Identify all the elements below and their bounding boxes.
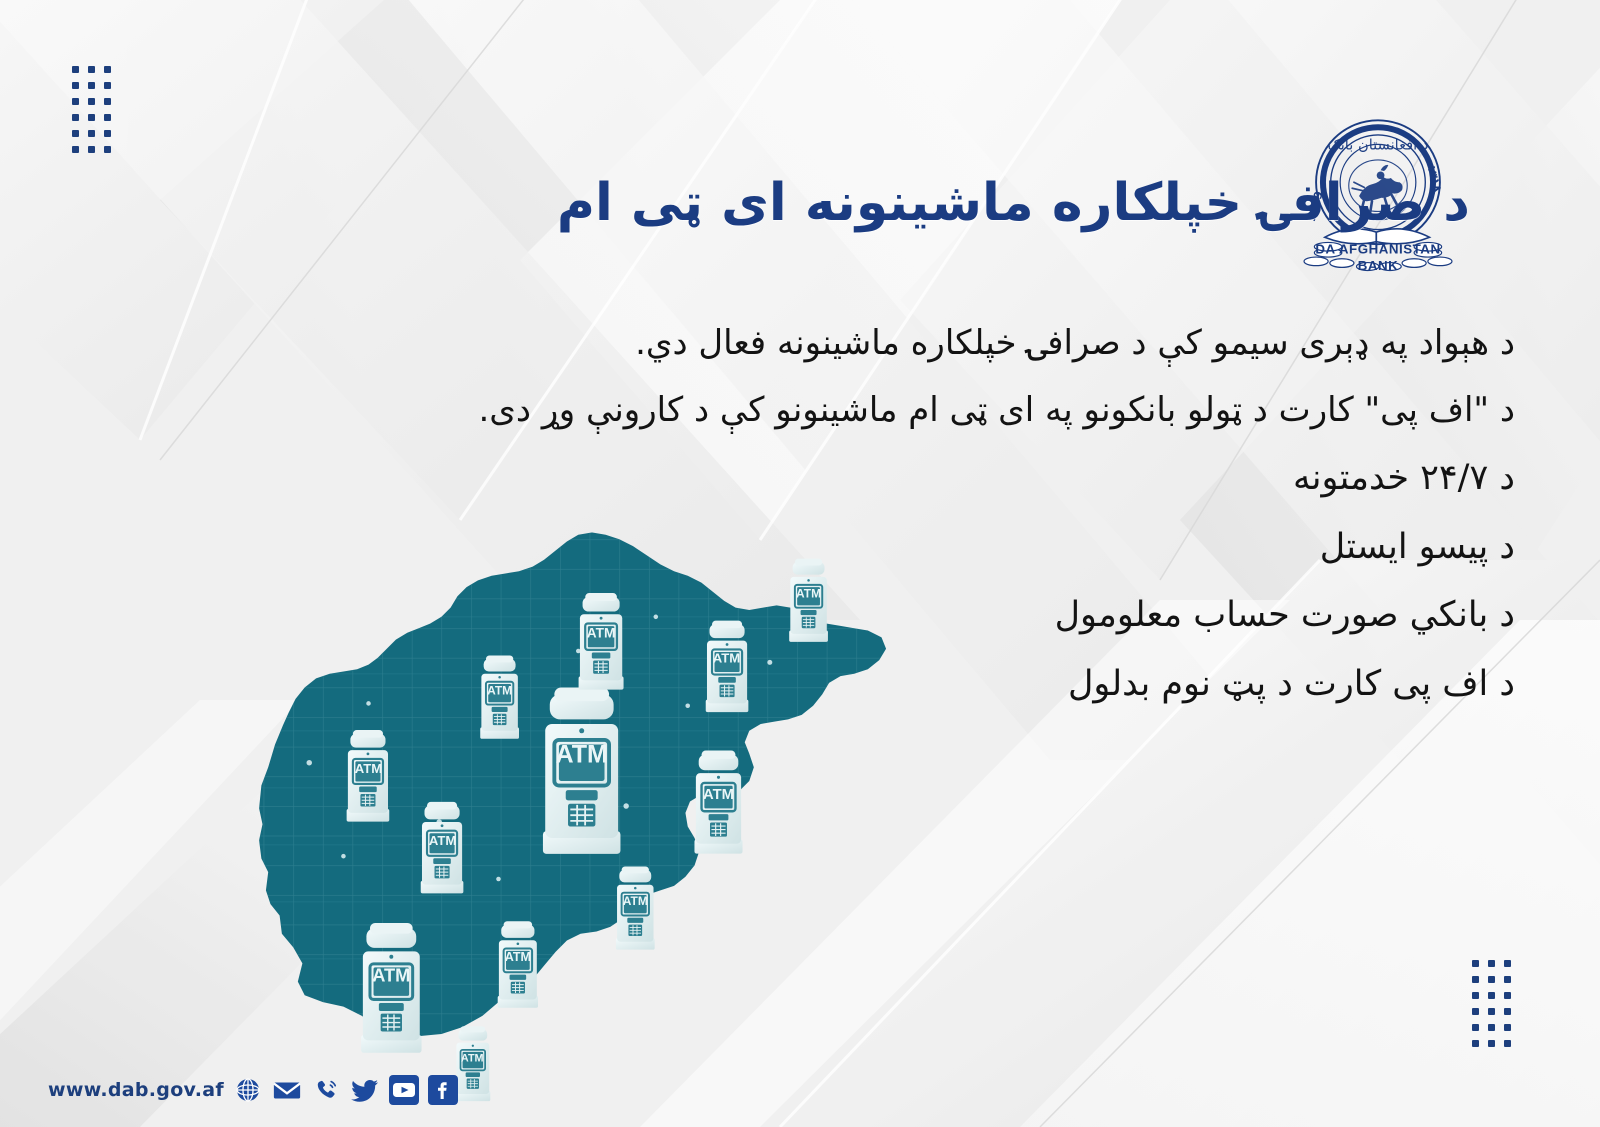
atm-marker[interactable]: ATM bbox=[480, 656, 519, 739]
logo-rim-text: د افغانستان بانک bbox=[1328, 137, 1429, 154]
whatsapp-icon[interactable] bbox=[311, 1075, 341, 1105]
atm-marker[interactable]: ATM bbox=[579, 593, 624, 690]
youtube-icon[interactable] bbox=[389, 1075, 419, 1105]
dot-grid-top-left bbox=[72, 66, 111, 153]
dot-grid-bottom-right bbox=[1472, 960, 1511, 1047]
atm-marker[interactable]: ATM bbox=[421, 802, 464, 894]
atm-marker-label: ATM bbox=[623, 894, 648, 908]
email-icon[interactable] bbox=[272, 1075, 302, 1105]
atm-marker-label: ATM bbox=[713, 650, 741, 665]
atm-marker-label: ATM bbox=[587, 625, 616, 640]
atm-marker[interactable]: ATM bbox=[455, 1026, 490, 1101]
atm-marker[interactable]: ATM bbox=[543, 687, 621, 853]
afghanistan-atm-map: ATM ATM ATM ATM ATM bbox=[196, 480, 956, 1050]
website-icon[interactable] bbox=[233, 1075, 263, 1105]
atm-marker[interactable]: ATM bbox=[347, 730, 390, 822]
atm-marker-label: ATM bbox=[487, 683, 512, 697]
atm-marker[interactable]: ATM bbox=[361, 923, 421, 1053]
page-title: د صرافۍ خپلکاره ماشينونه ای ټی ام bbox=[350, 171, 1470, 236]
atm-marker[interactable]: ATM bbox=[706, 621, 749, 713]
atm-marker-label: ATM bbox=[505, 950, 531, 964]
twitter-icon[interactable] bbox=[350, 1075, 380, 1105]
atm-marker-label: ATM bbox=[796, 586, 821, 600]
body-line-2: د "اف پی" کارت د ټولو بانکونو په ای ټی ا… bbox=[75, 385, 1515, 436]
atm-marker-label: ATM bbox=[429, 833, 457, 848]
atm-marker-label: ATM bbox=[355, 761, 383, 776]
website-url[interactable]: www.dab.gov.af bbox=[44, 1079, 224, 1101]
poster-canvas: د افغانستان بانک 1939 ۱۳۱۸ bbox=[0, 0, 1600, 1127]
logo-name-line1: DA AFGHANISTAN bbox=[1315, 242, 1440, 257]
logo-name-line2: BANK bbox=[1358, 258, 1399, 273]
body-line-1: د هېواد په ډېری سيمو کې د صرافۍ خپلکاره … bbox=[75, 318, 1515, 369]
atm-marker-label: ATM bbox=[703, 787, 734, 803]
footer-bar: www.dab.gov.af bbox=[44, 1075, 458, 1105]
atm-marker-label: ATM bbox=[372, 965, 410, 986]
atm-marker-label: ATM bbox=[555, 741, 607, 769]
atm-marker[interactable]: ATM bbox=[498, 921, 538, 1008]
atm-marker-label: ATM bbox=[461, 1052, 484, 1064]
facebook-icon[interactable] bbox=[428, 1075, 458, 1105]
atm-marker[interactable]: ATM bbox=[789, 559, 828, 642]
atm-marker[interactable]: ATM bbox=[616, 866, 655, 949]
atm-marker[interactable]: ATM bbox=[694, 750, 742, 853]
